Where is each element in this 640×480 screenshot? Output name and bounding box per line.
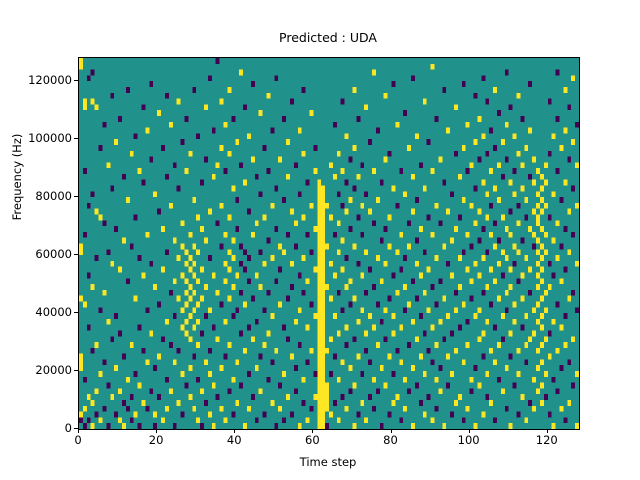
y-tick-mark (74, 428, 78, 429)
x-tick-mark (391, 429, 392, 433)
y-tick-mark (74, 370, 78, 371)
x-tick-label: 100 (439, 433, 499, 447)
matplotlib-figure: Predicted : UDA Frequency (Hz) Time step… (0, 0, 640, 480)
y-tick-label: 100000 (6, 131, 72, 145)
y-tick-label: 80000 (6, 189, 72, 203)
x-tick-label: 40 (204, 433, 264, 447)
y-tick-mark (74, 80, 78, 81)
y-tick-label: 20000 (6, 363, 72, 377)
x-tick-mark (234, 429, 235, 433)
x-axis-label: Time step (78, 455, 578, 469)
y-tick-label: 40000 (6, 305, 72, 319)
x-tick-label: 120 (517, 433, 577, 447)
x-tick-label: 0 (48, 433, 108, 447)
y-tick-mark (74, 312, 78, 313)
y-tick-mark (74, 254, 78, 255)
x-tick-label: 60 (282, 433, 342, 447)
page-title: Predicted : UDA (78, 30, 578, 45)
x-tick-mark (469, 429, 470, 433)
x-tick-mark (156, 429, 157, 433)
y-axis-label: Frequency (Hz) (10, 27, 24, 327)
x-tick-label: 20 (126, 433, 186, 447)
heatmap-plot-area[interactable] (78, 57, 580, 430)
y-tick-mark (74, 196, 78, 197)
y-tick-mark (74, 138, 78, 139)
heatmap-canvas[interactable] (79, 58, 579, 429)
x-tick-label: 80 (361, 433, 421, 447)
x-tick-mark (78, 429, 79, 433)
x-tick-mark (312, 429, 313, 433)
x-tick-mark (547, 429, 548, 433)
y-tick-label: 120000 (6, 73, 72, 87)
y-tick-label: 60000 (6, 247, 72, 261)
